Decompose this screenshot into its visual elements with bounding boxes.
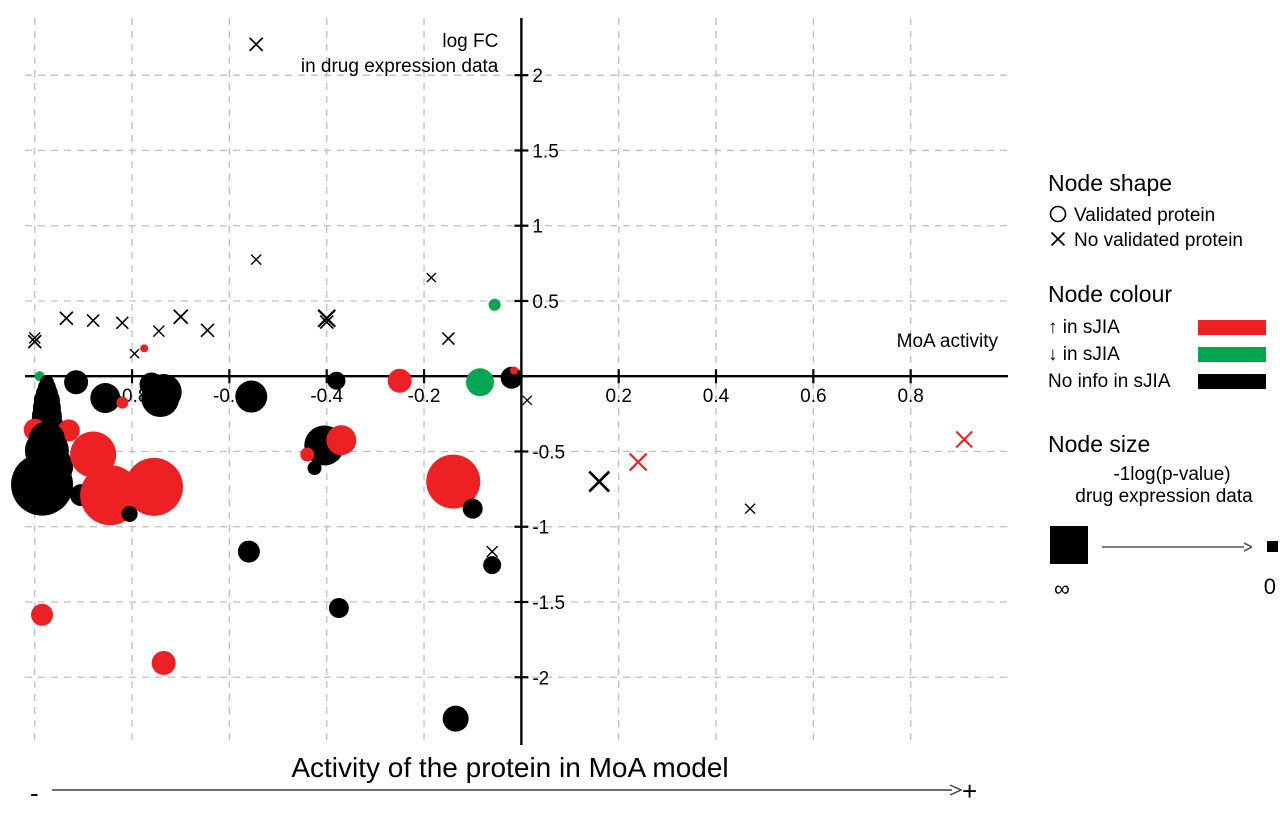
data-point-cross[interactable]	[427, 273, 436, 282]
y-axis-tick-label: -0.5	[532, 442, 565, 463]
legend-node-size-endpoints: ∞ 0	[1048, 578, 1280, 604]
data-point-circle[interactable]	[140, 344, 148, 352]
data-point-cross[interactable]	[250, 38, 263, 51]
data-point-circle[interactable]	[443, 706, 469, 732]
y-axis-tick-label: 1	[532, 217, 543, 238]
legend-colour-up-in-sjia: ↑ in sJIA	[1048, 314, 1280, 341]
data-point-cross[interactable]	[251, 255, 261, 265]
data-point-circle[interactable]	[388, 369, 412, 393]
data-point-cross[interactable]	[318, 310, 335, 327]
data-point-circle[interactable]	[326, 425, 356, 455]
swatch-up-in-sjia	[1198, 320, 1266, 335]
legend-item-no-validated-protein: No validated protein	[1048, 228, 1280, 253]
data-point-circle[interactable]	[64, 370, 88, 394]
x-axis-tick-label: -0.2	[408, 386, 441, 407]
data-point-circle[interactable]	[90, 383, 120, 413]
data-point-circle[interactable]	[31, 604, 53, 626]
x-axis-tick-label: 0.6	[800, 386, 826, 407]
data-point-cross[interactable]	[201, 324, 214, 337]
data-point-circle[interactable]	[466, 368, 494, 396]
data-point-circle[interactable]	[11, 454, 73, 516]
bottom-axis-title: Activity of the protein in MoA model	[0, 752, 1020, 784]
data-point-cross[interactable]	[630, 454, 647, 471]
figure-root: -0.8-0.6-0.4-0.20.20.40.60.821.510.5-0.5…	[0, 0, 1280, 832]
scatter-plot-svg: -0.8-0.6-0.4-0.20.20.40.60.821.510.5-0.5…	[0, 0, 1020, 760]
data-point-cross[interactable]	[130, 349, 139, 358]
x-axis-label: MoA activity	[897, 331, 999, 352]
legend-item-no-validated-protein-label: No validated protein	[1074, 231, 1243, 250]
y-axis-tick-label: -1.5	[532, 593, 565, 614]
data-point-circle[interactable]	[327, 372, 345, 390]
x-axis-tick-label: 0.4	[703, 386, 730, 407]
legend-node-shape-heading: Node shape	[1048, 170, 1280, 197]
data-point-cross[interactable]	[153, 326, 164, 337]
data-point-cross[interactable]	[745, 504, 755, 514]
data-point-circle[interactable]	[300, 448, 314, 462]
data-point-circle[interactable]	[510, 367, 518, 375]
legend-node-size-demo	[1048, 518, 1280, 578]
x-axis-tick-label: 0.2	[605, 386, 631, 407]
bottom-axis-arrow-icon	[52, 782, 962, 798]
legend-node-shape: Node shape Validated protein No validate…	[1048, 170, 1280, 253]
legend-node-size-caption-line1: -1log(p-value)	[1048, 464, 1280, 486]
cross-icon	[1048, 229, 1074, 253]
size-arrow-icon	[1102, 540, 1252, 554]
bottom-axis-minus-sign: -	[30, 780, 39, 806]
data-point-cross[interactable]	[442, 333, 454, 345]
legend-node-size-caption-line2: drug expression data	[1075, 486, 1252, 507]
axis-captions: log FCin drug expression dataMoA activit…	[301, 31, 999, 352]
swatch-no-info-in-sjia	[1198, 374, 1266, 389]
data-point-circle[interactable]	[116, 397, 128, 409]
legend-panel: Node shape Validated protein No validate…	[1048, 170, 1280, 604]
legend-colour-no-info-in-sjia-label: No info in sJIA	[1048, 371, 1198, 393]
legend-node-size: Node size -1log(p-value) drug expression…	[1048, 431, 1280, 604]
legend-node-colour-heading: Node colour	[1048, 281, 1280, 308]
data-point-circle[interactable]	[463, 499, 483, 519]
bottom-axis-caption: Activity of the protein in MoA model - +	[0, 752, 1020, 822]
data-point-cross[interactable]	[523, 396, 532, 405]
data-point-circle[interactable]	[483, 556, 501, 574]
data-point-circle[interactable]	[122, 506, 138, 522]
circle-icon	[1048, 204, 1074, 228]
scatter-plot-panel: -0.8-0.6-0.4-0.20.20.40.60.821.510.5-0.5…	[0, 0, 1020, 760]
data-point-cross[interactable]	[174, 310, 188, 324]
data-point-circle[interactable]	[238, 541, 260, 563]
x-axis-tick-label: 0.8	[897, 386, 923, 407]
legend-node-size-heading: Node size	[1048, 431, 1280, 458]
legend-item-validated-protein: Validated protein	[1048, 203, 1280, 228]
size-max-label: ∞	[1054, 576, 1070, 602]
y-axis-tick-label: -1	[532, 518, 549, 539]
legend-colour-no-info-in-sjia: No info in sJIA	[1048, 368, 1280, 395]
data-point-cross[interactable]	[487, 546, 498, 557]
data-point-circle[interactable]	[235, 381, 267, 413]
data-point-circle[interactable]	[489, 299, 501, 311]
data-point-cross[interactable]	[956, 431, 972, 447]
data-point-circle[interactable]	[152, 651, 176, 675]
y-axis-label-line1: log FC	[442, 31, 498, 52]
y-axis-tick-label: -2	[532, 668, 549, 689]
y-axis-label-line2: in drug expression data	[301, 56, 499, 77]
y-axis-tick-label: 0.5	[532, 292, 558, 313]
swatch-down-in-sjia	[1198, 347, 1266, 362]
data-point-cross[interactable]	[116, 317, 128, 329]
legend-colour-down-in-sjia: ↓ in sJIA	[1048, 341, 1280, 368]
data-point-cross[interactable]	[60, 312, 73, 325]
legend-item-validated-protein-label: Validated protein	[1074, 206, 1215, 225]
bottom-axis-plus-sign: +	[962, 778, 977, 804]
data-point-cross[interactable]	[589, 472, 609, 492]
data-points	[11, 38, 972, 732]
y-axis-tick-label: 1.5	[532, 141, 558, 162]
data-point-circle[interactable]	[141, 379, 179, 417]
size-square-large	[1050, 526, 1088, 564]
legend-colour-up-in-sjia-label: ↑ in sJIA	[1048, 317, 1198, 339]
legend-colour-down-in-sjia-label: ↓ in sJIA	[1048, 344, 1198, 366]
legend-node-size-caption: -1log(p-value) drug expression data	[1048, 464, 1280, 508]
legend-node-colour: Node colour ↑ in sJIA ↓ in sJIA No info …	[1048, 281, 1280, 395]
data-point-circle[interactable]	[308, 461, 322, 475]
data-point-cross[interactable]	[87, 315, 99, 327]
size-min-label: 0	[1264, 574, 1276, 600]
size-square-small	[1267, 541, 1278, 552]
y-axis-tick-label: 2	[532, 66, 543, 87]
data-point-circle[interactable]	[329, 598, 349, 618]
